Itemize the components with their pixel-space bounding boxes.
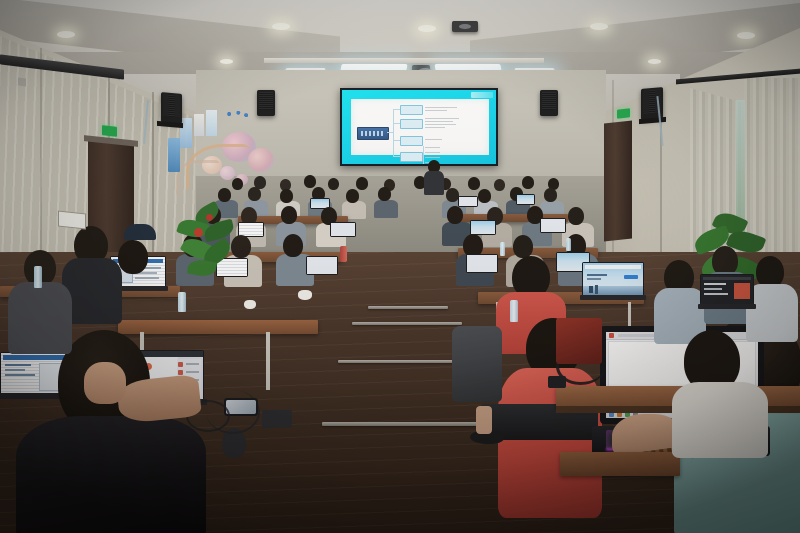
water-bottle [500,242,505,256]
potted-plant [176,206,242,282]
mindmap-node [400,152,423,162]
person-head [513,235,533,258]
person-head [281,206,297,224]
plant-leaf [187,258,217,279]
slide-text-line [425,127,445,128]
person-cap [124,224,156,240]
smartphone-screen [226,400,256,414]
paper-cup [244,300,256,309]
wall-speaker [161,92,182,124]
slide-text-line [425,107,457,108]
paper-cup [298,290,312,300]
person-head [378,187,391,201]
person-leg [476,406,492,434]
ceiling-light-trim [264,58,544,63]
power-plug [548,376,566,388]
mural-poster [194,114,204,136]
person-torso [672,382,768,458]
mindmap-connector [393,109,394,157]
laptop-base [698,304,756,309]
laptop-lid [700,274,754,305]
laptop-screen [517,195,534,204]
plant-flower [194,228,203,237]
person-torso [8,282,72,354]
laptop-screen [701,275,753,304]
classroom-photo [0,0,800,533]
slide-text-line [425,118,459,119]
mural-poster [168,138,180,172]
slide-text-line [425,124,456,125]
downlight-icon [220,59,233,64]
person-head [544,188,557,202]
slide-text-line [425,152,440,153]
exit-sign [617,108,630,118]
laptop-screen [307,257,337,274]
mindmap-node [400,119,423,129]
slide-text-line [425,147,440,148]
downlight-icon [648,59,661,64]
power-adapter [262,410,292,428]
person-torso [16,416,206,533]
downlight-icon [272,23,290,30]
floor-cable-strip [368,306,448,309]
slide-logo-icon [471,92,493,98]
slide-text-line [425,121,453,122]
downlight-icon [590,23,608,30]
mural-dots [224,108,250,120]
downlight-icon [418,25,436,32]
person-head [218,188,231,202]
mindmap-connector [387,132,394,133]
person-head [280,189,293,203]
downlight-icon [737,32,755,39]
downlight-icon [57,31,75,38]
presenter-torso [424,171,444,195]
person-foreground-left [16,330,206,533]
water-bottle [566,238,571,251]
desk-leg [266,332,270,390]
slide-text-line [425,110,447,111]
exit-sign [102,125,117,137]
ceiling-projector [452,21,478,32]
water-bottle [178,292,186,312]
backpack [452,326,502,402]
water-bottle [510,300,518,322]
slide-text-line [425,157,440,158]
person-head [118,240,148,274]
door[interactable] [604,121,632,242]
screen-housing-bracket [18,78,26,87]
projection-screen [340,88,498,166]
person-head [478,189,491,203]
laptop-lid [540,218,566,233]
person-far-right-foreground [676,330,766,450]
person-head [283,234,303,257]
laptop[interactable] [700,274,754,308]
slide-background [342,90,496,164]
audience-cluster-left [0,226,150,356]
laptop-screen [541,219,565,232]
mural-bubble [248,148,274,172]
floor-cable-strip [352,322,462,325]
mural-arc [176,160,219,195]
desk [560,452,680,476]
person-head [346,189,359,203]
mindmap-root-node [357,127,389,140]
presenter [424,160,444,194]
plant-flower [206,214,213,221]
mural-poster [206,110,217,136]
laptop[interactable] [540,218,566,233]
person-head [447,206,463,224]
thermos-cup [340,246,347,262]
wall-sign [58,211,86,230]
laptop-screen [467,255,497,272]
mindmap-node [400,105,423,115]
mindmap-node [400,136,423,146]
laptop[interactable] [306,256,338,275]
wall-speaker [540,90,558,116]
person-hand [84,362,126,404]
slide-content [351,99,489,155]
person-head [568,207,584,225]
water-bottle [34,266,42,288]
person-head [248,187,261,201]
mindmap-root-label [361,131,385,136]
wall-speaker [257,90,275,116]
slide-text-line [425,139,442,140]
red-chair-cushion [556,318,602,364]
laptop-lid [306,256,338,275]
